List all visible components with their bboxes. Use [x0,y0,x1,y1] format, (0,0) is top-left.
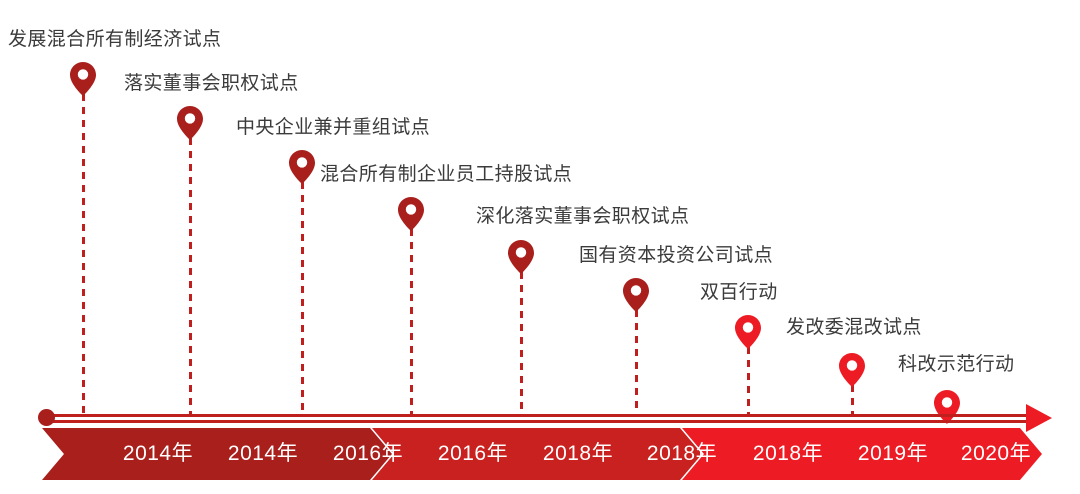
milestone-stem [851,385,854,416]
year-label-7: 2018年 [742,428,834,480]
map-marker-icon[interactable] [398,197,424,231]
milestone-label: 中央企业兼并重组试点 [236,118,430,137]
timeline-axis-line [44,414,1028,423]
milestone-stem [301,182,304,416]
timeline-diagram: 发展混合所有制经济试点落实董事会职权试点中央企业兼并重组试点混合所有制企业员工持… [0,0,1080,494]
milestone-label: 科改示范行动 [898,355,1014,374]
milestone-label: 混合所有制企业员工持股试点 [320,165,572,184]
year-label-1: 2014年 [112,428,204,480]
milestone-label: 发改委混改试点 [786,318,922,337]
milestone-stem [635,310,638,416]
milestone-stem [520,272,523,416]
milestone-stem [189,138,192,416]
axis-rule-lower [44,420,1028,423]
year-label-9: 2020年 [950,428,1042,480]
milestone-label: 深化落实董事会职权试点 [476,207,689,226]
year-label-2: 2014年 [217,428,309,480]
year-label-4: 2016年 [427,428,519,480]
milestone-label: 落实董事会职权试点 [124,74,299,93]
map-marker-icon[interactable] [735,315,761,349]
milestone-stem [410,229,413,416]
axis-rule-upper [44,414,1028,417]
axis-start-dot [38,409,55,426]
map-marker-icon[interactable] [70,62,96,96]
year-label-8: 2019年 [847,428,939,480]
milestone-stem [747,347,750,416]
milestone-label: 发展混合所有制经济试点 [8,30,221,49]
map-marker-icon[interactable] [623,278,649,312]
year-label-3: 2016年 [322,428,414,480]
map-marker-icon[interactable] [289,150,315,184]
map-marker-icon[interactable] [177,106,203,140]
milestone-label: 国有资本投资公司试点 [579,246,773,265]
milestone-label: 双百行动 [700,283,778,302]
year-chevron-bar: 2014年2014年2016年2016年2018年2018年2018年2019年… [42,428,1042,480]
year-label-5: 2018年 [532,428,624,480]
map-marker-icon[interactable] [508,240,534,274]
milestone-stem [82,94,85,416]
year-label-6: 2018年 [636,428,728,480]
map-marker-icon[interactable] [839,353,865,387]
